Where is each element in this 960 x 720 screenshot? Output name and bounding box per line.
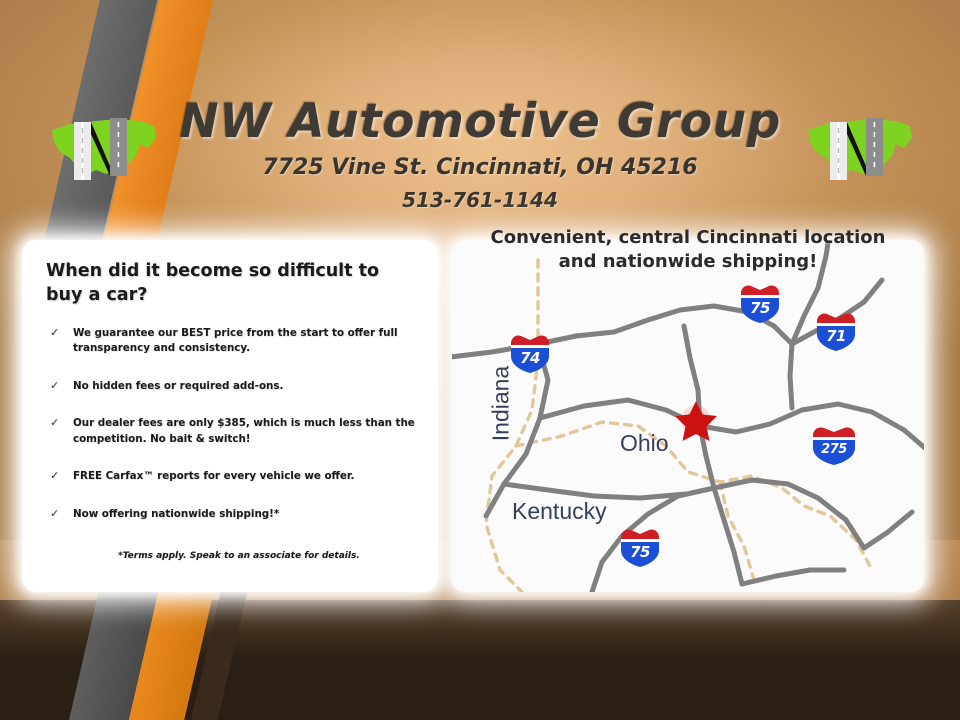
- interstate-shield-74: 74: [508, 332, 552, 374]
- state-label-kentucky: Kentucky: [512, 498, 607, 525]
- interstate-shield-label: 71: [814, 329, 858, 344]
- list-item: ✓ Now offering nationwide shipping!*: [44, 507, 426, 522]
- check-mark-icon: ✓: [50, 468, 59, 485]
- map-heading-line-2: and nationwide shipping!: [452, 250, 924, 274]
- regional-road-map: [452, 240, 924, 592]
- terms-disclaimer: *Terms apply. Speak to an associate for …: [118, 551, 418, 561]
- value-proposition-card: When did it become so difficult to buy a…: [22, 240, 438, 592]
- list-item-label: We guarantee our BEST price from the sta…: [73, 327, 398, 354]
- interstate-shield-label: 74: [508, 351, 552, 366]
- page-title: When did it become so difficult to buy a…: [46, 260, 416, 307]
- brand-header: NW Automotive Group 7725 Vine St. Cincin…: [0, 96, 960, 212]
- map-card-heading: Convenient, central Cincinnati location …: [452, 226, 924, 275]
- location-map-card: Indiana Ohio Kentucky 74 75: [452, 240, 924, 592]
- interstate-shield-label: 275: [810, 443, 858, 456]
- list-item-label: FREE Carfax™ reports for every vehicle w…: [73, 470, 354, 482]
- state-label-ohio: Ohio: [620, 430, 669, 457]
- interstate-shield-71: 71: [814, 310, 858, 352]
- check-mark-icon: ✓: [50, 506, 59, 523]
- list-item: ✓ We guarantee our BEST price from the s…: [44, 326, 426, 357]
- check-mark-icon: ✓: [50, 415, 59, 432]
- list-item: ✓ Our dealer fees are only $385, which i…: [44, 416, 426, 447]
- interstate-shield-75-north: 75: [738, 282, 782, 324]
- list-item: ✓ No hidden fees or required add-ons.: [44, 379, 426, 394]
- list-item-label: Now offering nationwide shipping!*: [73, 508, 279, 520]
- map-heading-line-1: Convenient, central Cincinnati location: [491, 227, 886, 248]
- benefit-list: ✓ We guarantee our BEST price from the s…: [44, 326, 426, 544]
- slide-canvas: NW Automotive Group 7725 Vine St. Cincin…: [0, 0, 960, 720]
- list-item: ✓ FREE Carfax™ reports for every vehicle…: [44, 469, 426, 484]
- list-item-label: Our dealer fees are only $385, which is …: [73, 417, 415, 444]
- interstate-shield-275: 275: [810, 424, 858, 466]
- interstate-shield-label: 75: [618, 545, 662, 560]
- brand-address: 7725 Vine St. Cincinnati, OH 45216: [0, 155, 960, 180]
- interstate-shield-75-south: 75: [618, 526, 662, 568]
- list-item-label: No hidden fees or required add-ons.: [73, 380, 283, 392]
- brand-title: NW Automotive Group: [0, 96, 960, 149]
- check-mark-icon: ✓: [50, 325, 59, 342]
- check-mark-icon: ✓: [50, 378, 59, 395]
- interstate-shield-label: 75: [738, 301, 782, 316]
- brand-phone: 513-761-1144: [0, 188, 960, 212]
